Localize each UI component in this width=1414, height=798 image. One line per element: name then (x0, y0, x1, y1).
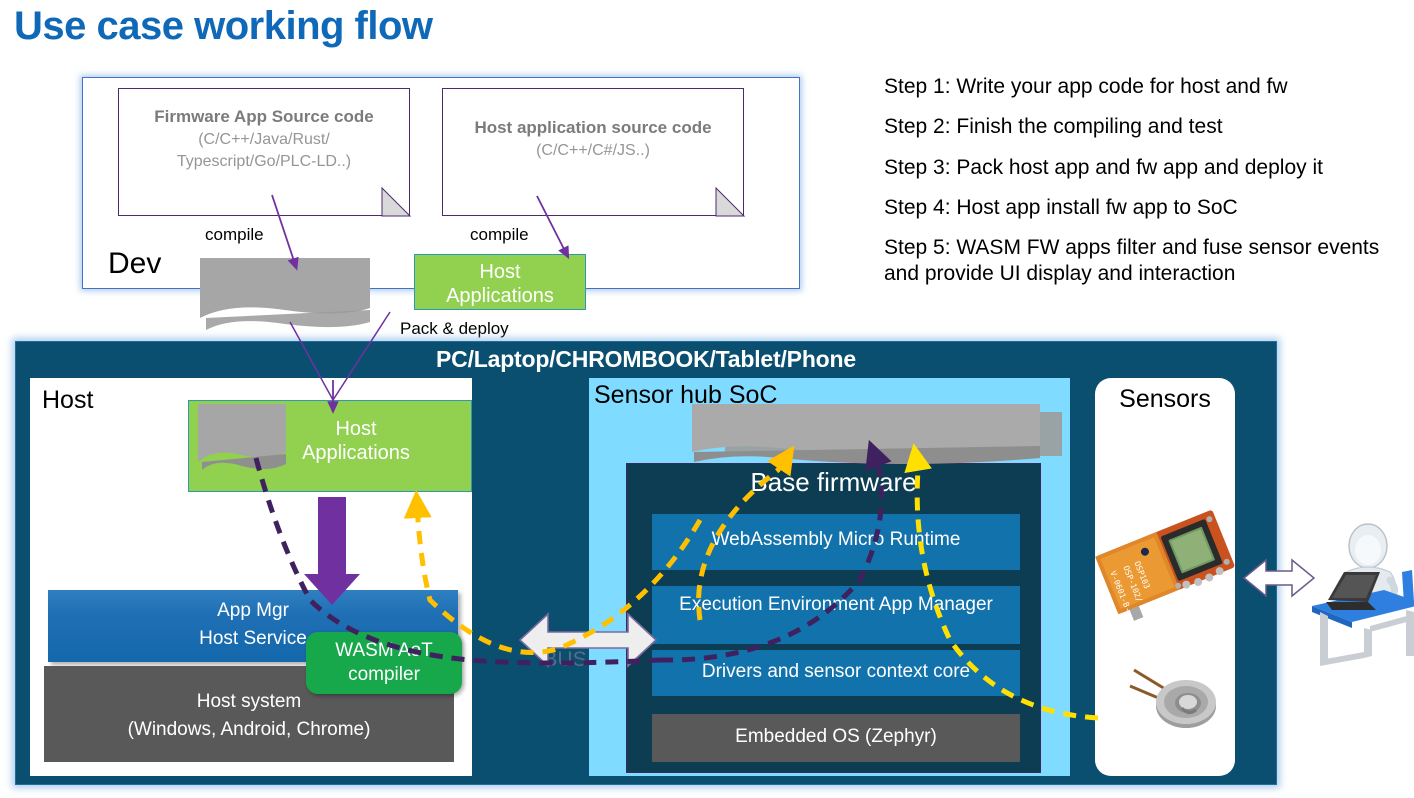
wasm-aot-line1: WASM AoT (306, 639, 462, 663)
app-mgr-line1: App Mgr (48, 597, 458, 625)
page-title: Use case working flow (14, 4, 433, 49)
firmware-source-line3: Typescript/Go/PLC-LD..) (119, 151, 409, 173)
steps-list: Step 1: Write your app code for host and… (884, 74, 1404, 302)
host-panel-label: Host (42, 386, 93, 415)
wasm-aot-line2: compiler (306, 663, 462, 687)
firmware-row-embedded-os: Embedded OS (Zephyr) (652, 714, 1020, 762)
compile-label-firmware: compile (205, 225, 264, 245)
fw-app-packages-host-line2: Packages (198, 424, 286, 444)
compile-label-host: compile (470, 225, 529, 245)
bus-label: BUS (520, 648, 610, 672)
dynamic-fw-apps-line1: Dynamic fw apps (690, 404, 1038, 427)
host-applications-dev-line2: Applications (415, 284, 585, 308)
host-applications-dev-line1: Host (415, 260, 585, 284)
host-system-line2: (Windows, Android, Chrome) (44, 716, 454, 744)
fw-app-packages-host-line1: FW-App (198, 404, 286, 424)
firmware-row-exec-env-app-mgr: Execution Environment App Manager (652, 586, 1020, 644)
firmware-source-note: Firmware App Source code (C/C++/Java/Rus… (118, 88, 410, 216)
user-at-laptop-image (1312, 524, 1414, 666)
fw-app-packages-dev-line2: (WASM bytecode) (200, 276, 370, 294)
dev-label: Dev (108, 247, 161, 281)
step-4: Step 4: Host app install fw app to SoC (884, 195, 1404, 221)
wasm-aot-compiler-box: WASM AoT compiler (306, 632, 462, 694)
pack-deploy-label: Pack & deploy (400, 319, 509, 339)
dynamic-fw-apps-line2: (UI, sensors handling) (690, 427, 1038, 444)
dynamic-fw-apps-box: Dynamic fw apps (UI, sensors handling) (690, 404, 1038, 456)
firmware-row-drivers: Drivers and sensor context core (652, 650, 1020, 696)
step-1: Step 1: Write your app code for host and… (884, 74, 1404, 100)
step-3: Step 3: Pack host app and fw app and dep… (884, 155, 1404, 181)
sensors-panel (1095, 378, 1235, 776)
step-2: Step 2: Finish the compiling and test (884, 114, 1404, 140)
fw-app-packages-host: FW-App Packages (198, 404, 286, 466)
slide-canvas: Use case working flow Dev Firmware App S… (0, 0, 1414, 798)
host-source-note: Host application source code (C/C++/C#/J… (442, 88, 744, 216)
firmware-source-line2: (C/C++/Java/Rust/ (119, 129, 409, 151)
sensors-panel-label: Sensors (1095, 385, 1235, 414)
base-firmware-title: Base firmware (626, 467, 1041, 498)
step-5: Step 5: WASM FW apps filter and fuse sen… (884, 235, 1404, 288)
host-source-line2: (C/C++/C#/JS..) (443, 140, 743, 162)
fw-app-packages-dev: FW-App Packages (WASM bytecode) (200, 258, 370, 320)
host-source-title: Host application source code (443, 117, 743, 140)
firmware-source-title: Firmware App Source code (119, 106, 409, 129)
device-panel-title: PC/Laptop/CHROMBOOK/Tablet/Phone (15, 346, 1277, 373)
fw-app-packages-dev-line1: FW-App Packages (200, 258, 370, 276)
host-applications-dev: Host Applications (414, 254, 586, 310)
firmware-row-wamr: WebAssembly Micro Runtime (652, 514, 1020, 570)
